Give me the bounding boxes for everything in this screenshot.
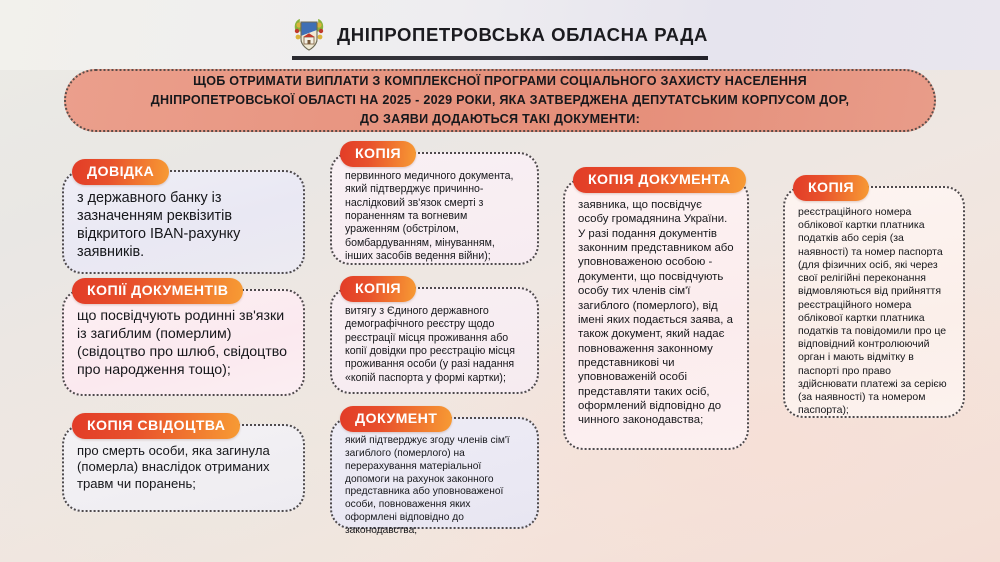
document-card-kopia-vytyahu: КОПІЯ витягу з Єдиного державного демогр…	[330, 287, 539, 394]
document-card-kopia-rnokpp: КОПІЯ реєстраційного номера облікової ка…	[783, 186, 965, 418]
card-badge-kopia-medychnoho: КОПІЯ	[340, 141, 416, 167]
header-divider	[292, 56, 708, 60]
document-card-dovidka: ДОВІДКА з державного банку із зазначення…	[62, 170, 305, 274]
card-text-kopii-dokumentiv: що посвідчують родинні зв'язки із загибл…	[64, 291, 303, 392]
card-text-kopia-dokumenta-zayavnyka: заявника, що посвідчує особу громадянина…	[565, 180, 747, 440]
banner-line-1: ЩОБ ОТРИМАТИ ВИПЛАТИ З КОМПЛЕКСНОЇ ПРОГР…	[193, 73, 807, 90]
card-badge-kopia-svidoctva: КОПІЯ СВІДОЦТВА	[72, 413, 240, 439]
document-card-dokument-zghoda: ДОКУМЕНТ який підтверджує згоду членів с…	[330, 417, 539, 529]
card-badge-kopii-dokumentiv: КОПІЇ ДОКУМЕНТІВ	[72, 278, 243, 304]
document-card-kopia-svidoctva: КОПІЯ СВІДОЦТВА про смерть особи, яка за…	[62, 424, 305, 512]
card-badge-kopia-dokumenta: КОПІЯ ДОКУМЕНТА	[573, 167, 746, 193]
document-card-kopia-dokumenta-zayavnyka: КОПІЯ ДОКУМЕНТА заявника, що посвідчує о…	[563, 178, 749, 450]
card-badge-kopia-vytyahu: КОПІЯ	[340, 276, 416, 302]
card-text-kopia-rnokpp: реєстраційного номера облікової картки п…	[785, 188, 963, 430]
document-card-kopia-medychnoho: КОПІЯ первинного медичного документа, як…	[330, 152, 539, 265]
card-badge-dokument-zghoda: ДОКУМЕНТ	[340, 406, 452, 432]
intro-banner: ЩОБ ОТРИМАТИ ВИПЛАТИ З КОМПЛЕКСНОЇ ПРОГР…	[64, 69, 936, 132]
card-text-dokument-zghoda: який підтверджує згоду членів сім'ї заги…	[332, 419, 537, 550]
poster-header: ДНІПРОПЕТРОВСЬКА ОБЛАСНА РАДА	[0, 16, 1000, 54]
banner-line-3: ДО ЗАЯВИ ДОДАЮТЬСЯ ТАКІ ДОКУМЕНТИ:	[360, 111, 640, 128]
card-text-dovidka: з державного банку із зазначенням реквіз…	[64, 172, 303, 274]
banner-line-2: ДНІПРОПЕТРОВСЬКОЇ ОБЛАСТІ НА 2025 - 2029…	[151, 92, 849, 109]
dnipropetrovsk-oblast-coat-of-arms-icon	[292, 16, 326, 54]
card-text-kopia-vytyahu: витягу з Єдиного державного демографічно…	[332, 289, 537, 397]
infographic-poster: ДНІПРОПЕТРОВСЬКА ОБЛАСНА РАДА ЩОБ ОТРИМА…	[0, 0, 1000, 562]
page-title: ДНІПРОПЕТРОВСЬКА ОБЛАСНА РАДА	[337, 24, 708, 46]
card-text-kopia-medychnoho: первинного медичного документа, який під…	[332, 154, 537, 275]
card-badge-kopia-rnokpp: КОПІЯ	[793, 175, 869, 201]
document-card-kopii-dokumentiv: КОПІЇ ДОКУМЕНТІВ що посвідчують родинні …	[62, 289, 305, 396]
card-badge-dovidka: ДОВІДКА	[72, 159, 169, 185]
